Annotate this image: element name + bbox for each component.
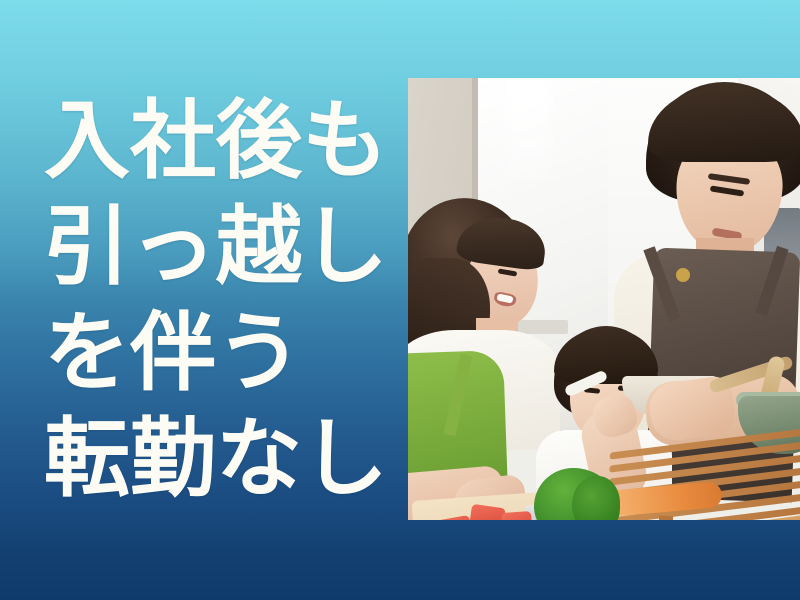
broccoli-floret xyxy=(572,476,620,520)
recruitment-banner: 入社後も 引っ越し を伴う 転勤なし xyxy=(0,0,800,600)
tomato-slice xyxy=(501,511,533,520)
headline-line-3: を伴う xyxy=(44,300,302,406)
family-cooking-photo xyxy=(408,78,800,520)
headline-line-2: 引っ越し xyxy=(44,194,388,300)
father-apron-buckle xyxy=(676,268,690,282)
rack-leg xyxy=(657,516,673,520)
headline-line-1: 入社後も xyxy=(44,88,388,194)
refrigerator-highlight xyxy=(504,78,552,198)
headline-block: 入社後も 引っ越し を伴う 転勤なし xyxy=(0,0,408,600)
headline-line-4: 転勤なし xyxy=(44,406,388,512)
